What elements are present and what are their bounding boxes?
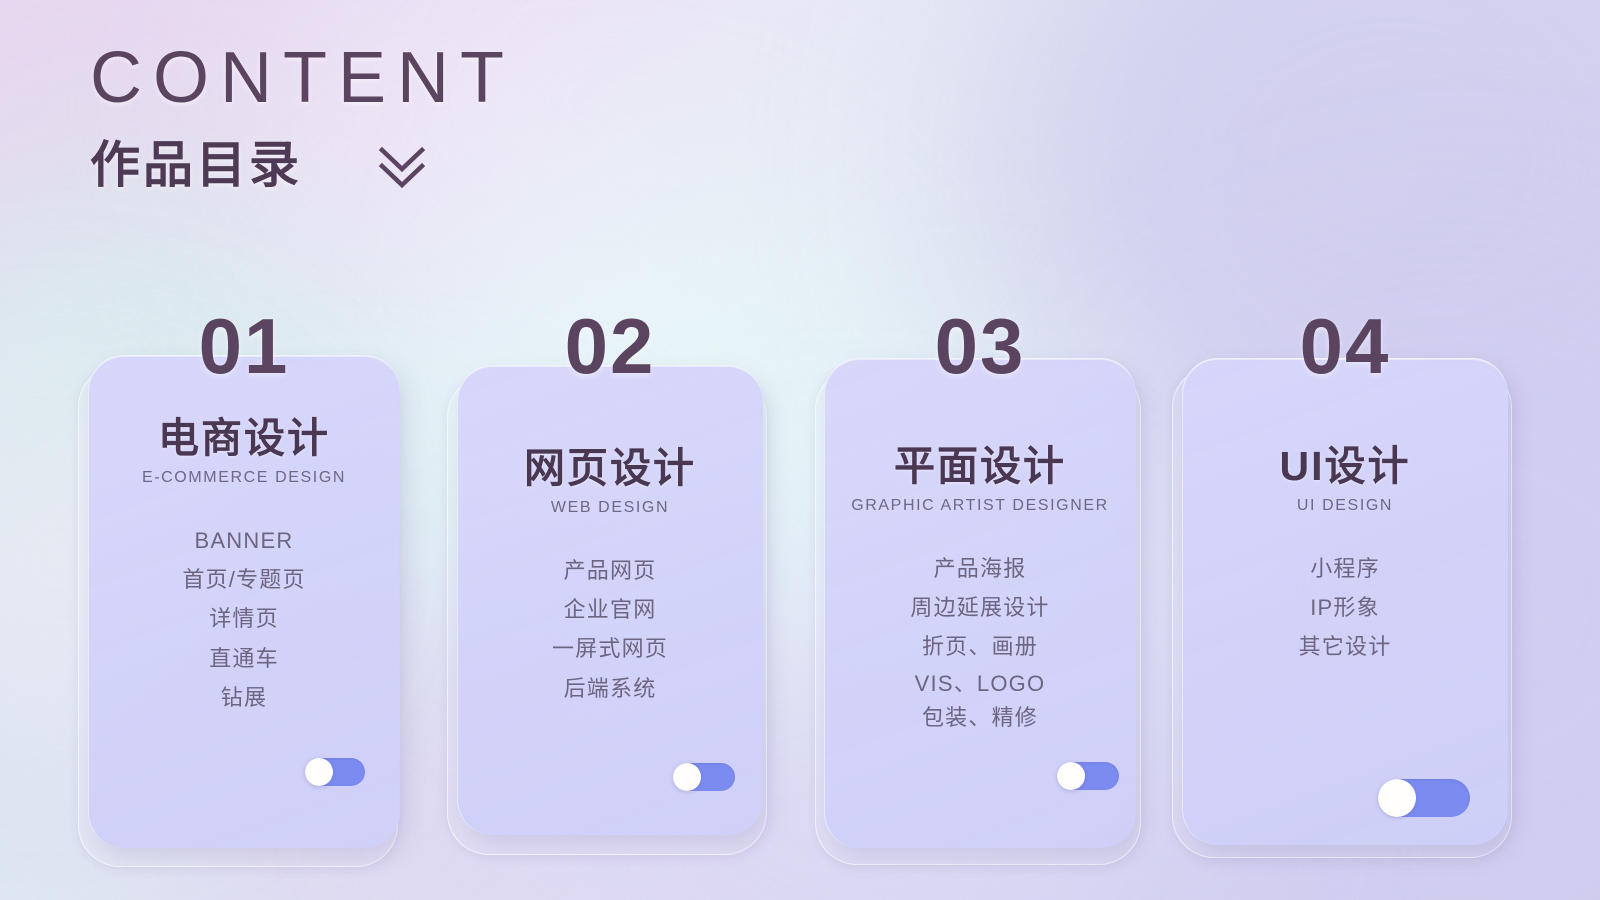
- toggle-switch-02[interactable]: [673, 763, 735, 791]
- card-04-surface[interactable]: [1182, 358, 1508, 845]
- cards-container: 01 电商设计 E-COMMERCE DESIGN BANNER 首页/专题页 …: [0, 0, 1600, 900]
- toggle-knob: [1378, 779, 1416, 817]
- toggle-knob: [1057, 762, 1085, 790]
- toggle-knob: [305, 758, 333, 786]
- toggle-switch-01[interactable]: [305, 758, 365, 786]
- toggle-switch-04[interactable]: [1378, 779, 1470, 817]
- toggle-knob: [673, 763, 701, 791]
- toggle-switch-03[interactable]: [1057, 762, 1119, 790]
